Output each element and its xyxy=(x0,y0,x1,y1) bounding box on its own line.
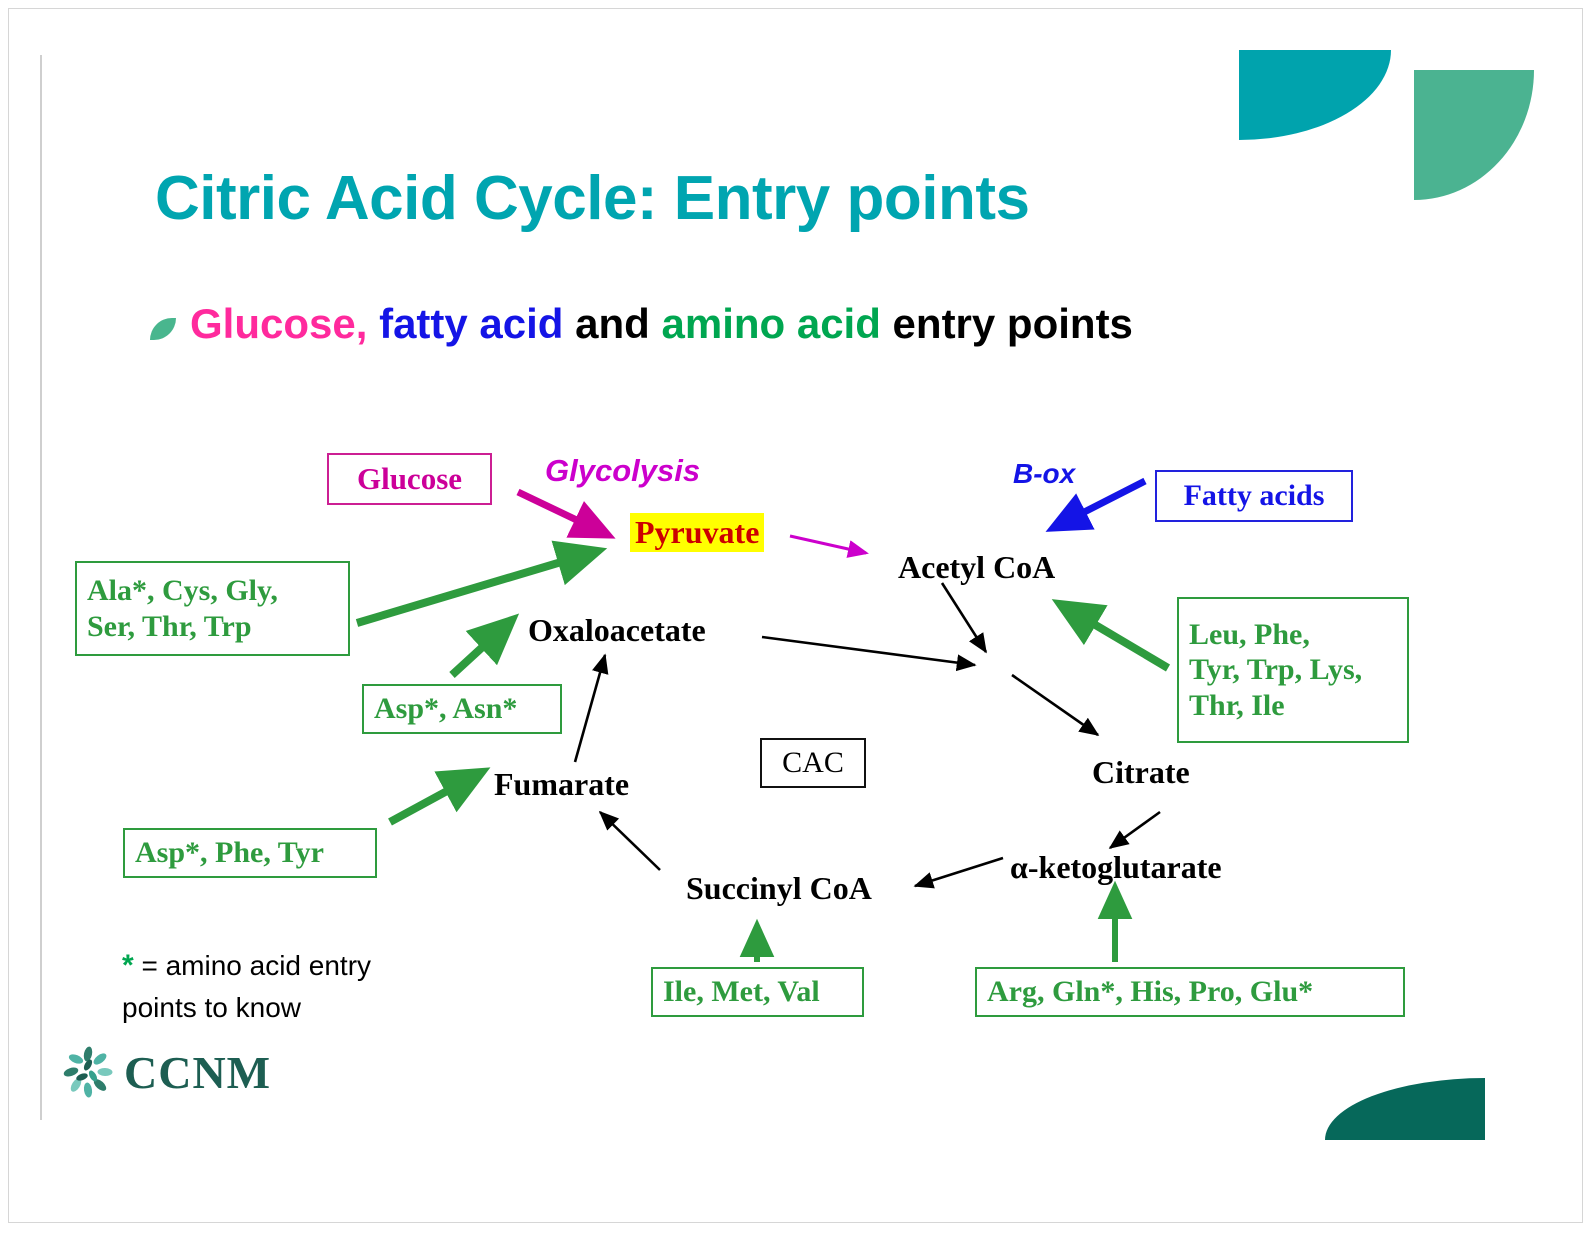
glucose-label: Glucose xyxy=(357,461,462,497)
legend-asterisk: * xyxy=(122,949,134,982)
fumarate-node: Fumarate xyxy=(494,766,629,803)
succinyl-coa-node: Succinyl CoA xyxy=(686,870,872,907)
arrow-aa-to-acetyl-coa xyxy=(1060,604,1168,668)
arrow-junction-to-citrate xyxy=(1012,675,1098,735)
aa-line: Arg, Gln*, His, Pro, Glu* xyxy=(987,974,1313,1009)
arrow-aa-to-fumarate xyxy=(390,772,482,822)
amino-acid-box-to-fumarate[interactable]: Asp*, Phe, Tyr xyxy=(123,828,377,878)
alpha-ketoglutarate-node: α-ketoglutarate xyxy=(1010,849,1222,886)
arrow-fumarate-to-oxaloacetate xyxy=(575,655,605,762)
aa-line: Thr, Ile xyxy=(1189,688,1362,723)
ccnm-logo: CCNM xyxy=(60,1040,310,1102)
cac-box: CAC xyxy=(760,738,866,788)
aa-line: Tyr, Trp, Lys, xyxy=(1189,652,1362,687)
arrow-glucose-to-pyruvate xyxy=(518,492,608,535)
arrow-aa-to-oxaloacetate xyxy=(452,620,512,675)
cac-label: CAC xyxy=(782,746,844,780)
oxaloacetate-node: Oxaloacetate xyxy=(528,612,706,649)
fatty-acids-box[interactable]: Fatty acids xyxy=(1155,470,1353,522)
ccnm-wordmark: CCNM xyxy=(124,1046,271,1099)
legend-line-2: points to know xyxy=(122,992,301,1023)
fatty-acids-label: Fatty acids xyxy=(1184,479,1325,513)
glycolysis-label: Glycolysis xyxy=(545,453,700,489)
amino-acid-box-to-acetyl-coa[interactable]: Leu, Phe, Tyr, Trp, Lys, Thr, Ile xyxy=(1177,597,1409,743)
amino-acid-box-to-succinyl-coa[interactable]: Ile, Met, Val xyxy=(651,967,864,1017)
arrow-citrate-to-alpha-ketoglutarate xyxy=(1110,812,1160,848)
aa-line: Ala*, Cys, Gly, xyxy=(87,573,278,608)
amino-acid-box-to-oxaloacetate[interactable]: Asp*, Asn* xyxy=(362,684,562,734)
aa-line: Asp*, Asn* xyxy=(374,691,517,726)
amino-acid-box-to-pyruvate[interactable]: Ala*, Cys, Gly, Ser, Thr, Trp xyxy=(75,561,350,656)
aa-line: Ile, Met, Val xyxy=(663,974,820,1009)
glucose-box[interactable]: Glucose xyxy=(327,453,492,505)
arrow-acetyl-coa-to-junction xyxy=(942,583,986,652)
acetyl-coa-node: Acetyl CoA xyxy=(898,549,1055,586)
ccnm-leaf-mark-icon xyxy=(60,1044,116,1100)
amino-acid-box-to-alpha-ketoglutarate[interactable]: Arg, Gln*, His, Pro, Glu* xyxy=(975,967,1405,1017)
citrate-node: Citrate xyxy=(1092,754,1190,791)
pyruvate-node: Pyruvate xyxy=(630,513,764,552)
aa-line: Leu, Phe, xyxy=(1189,617,1362,652)
slide-canvas: Citric Acid Cycle: Entry points Glucose,… xyxy=(0,0,1593,1233)
aa-line: Asp*, Phe, Tyr xyxy=(135,835,324,870)
beta-oxidation-label: B-ox xyxy=(1013,458,1075,490)
aa-line: Ser, Thr, Trp xyxy=(87,609,278,644)
arrow-succinyl-coa-to-fumarate xyxy=(600,812,660,870)
legend: * = amino acid entry points to know xyxy=(122,945,482,1027)
arrow-oxaloacetate-to-junction xyxy=(762,637,975,665)
legend-line-1: = amino acid entry xyxy=(134,950,371,981)
arrow-alpha-ketoglutarate-to-succinyl-coa xyxy=(915,858,1003,886)
arrow-pyruvate-to-acetyl-coa xyxy=(790,536,866,553)
